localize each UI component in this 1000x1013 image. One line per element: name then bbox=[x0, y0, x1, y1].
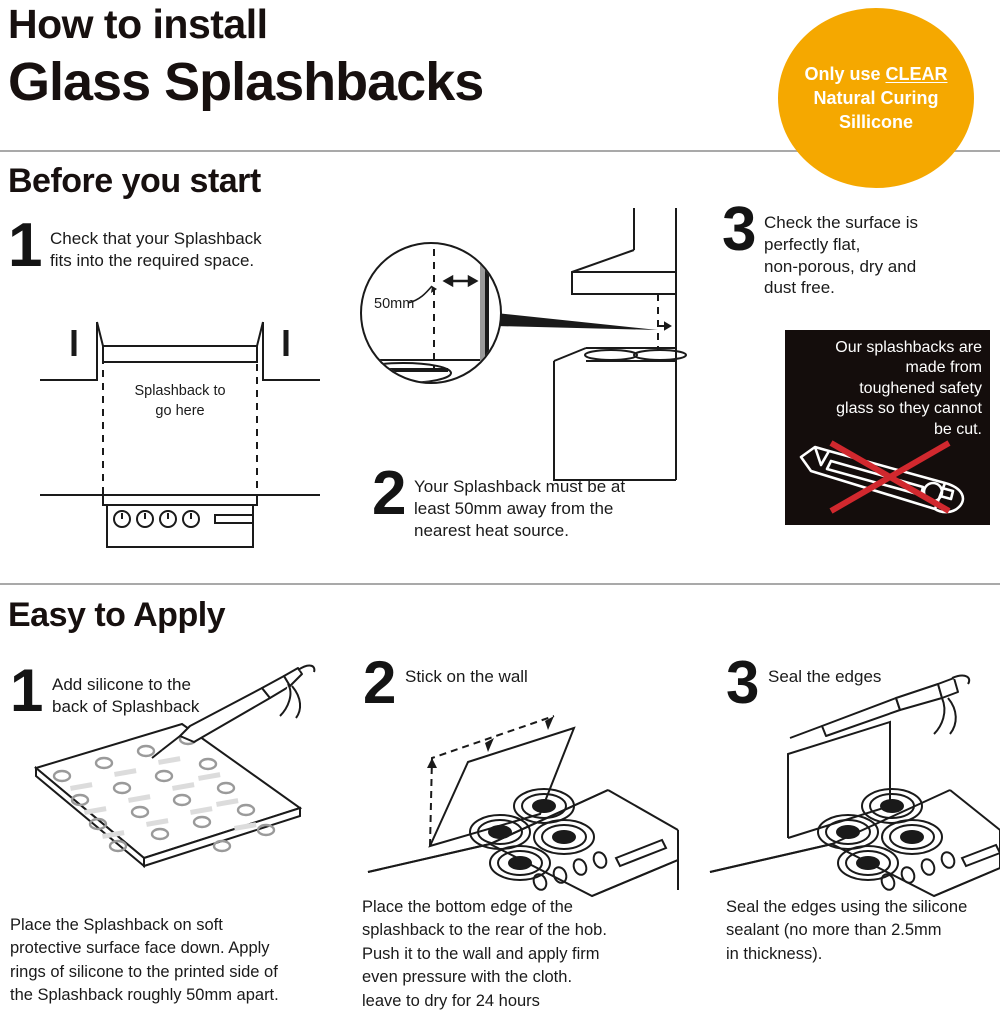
clear-silicone-badge: Only use CLEAR Natural Curing Sillicone bbox=[778, 8, 974, 188]
badge-line1-prefix: Only use bbox=[804, 64, 885, 84]
apply-step-3-caption: Seal the edges using the silicone sealan… bbox=[726, 896, 992, 966]
badge-clear-emphasis: CLEAR bbox=[886, 64, 948, 84]
badge-line-2: Natural Curing bbox=[813, 86, 938, 110]
before-step-2-text: Your Splashback must be at least 50mm aw… bbox=[414, 470, 625, 541]
cannot-be-cut-warning-box: Our splashbacks are made from toughened … bbox=[785, 330, 990, 525]
page-title-line2: Glass Splashbacks bbox=[8, 55, 483, 109]
apply-step-2-caption: Place the bottom edge of the splashback … bbox=[362, 896, 682, 1013]
before-step-1-text: Check that your Splashback fits into the… bbox=[50, 222, 262, 272]
apply-step-1-caption: Place the Splashback on soft protective … bbox=[10, 914, 340, 1008]
warning-text: Our splashbacks are made from toughened … bbox=[793, 338, 982, 440]
splashback-placeholder-label: Splashback to go here bbox=[103, 382, 257, 421]
before-step-3-text: Check the surface is perfectly flat, non… bbox=[764, 206, 918, 299]
seal-the-edges-diagram bbox=[700, 680, 1000, 900]
silicone-application-diagram bbox=[22, 706, 322, 906]
badge-line-3: Sillicone bbox=[839, 110, 913, 134]
before-step-1: 1 Check that your Splashback fits into t… bbox=[8, 222, 318, 272]
before-step-3-number: 3 bbox=[722, 206, 764, 254]
utility-knife-crossed-out-icon bbox=[795, 435, 981, 519]
kitchen-elevation-diagram: Splashback to go here bbox=[40, 320, 320, 540]
before-step-1-number: 1 bbox=[8, 222, 50, 270]
dimension-label-50mm: 50mm bbox=[374, 296, 414, 312]
poster-root: How to install Glass Splashbacks Only us… bbox=[0, 0, 1000, 1000]
heat-source-clearance-diagram: 50mm bbox=[358, 208, 678, 483]
section-title-before: Before you start bbox=[8, 162, 261, 201]
page-title-line1: How to install bbox=[8, 4, 268, 45]
before-step-2: 2 Your Splashback must be at least 50mm … bbox=[372, 470, 672, 541]
before-step-2-number: 2 bbox=[372, 470, 414, 518]
divider-bottom bbox=[0, 583, 1000, 585]
stick-on-wall-diagram bbox=[358, 680, 678, 900]
badge-line-1: Only use CLEAR bbox=[804, 62, 947, 86]
before-step-3: 3 Check the surface is perfectly flat, n… bbox=[722, 206, 992, 299]
section-title-apply: Easy to Apply bbox=[8, 596, 225, 635]
